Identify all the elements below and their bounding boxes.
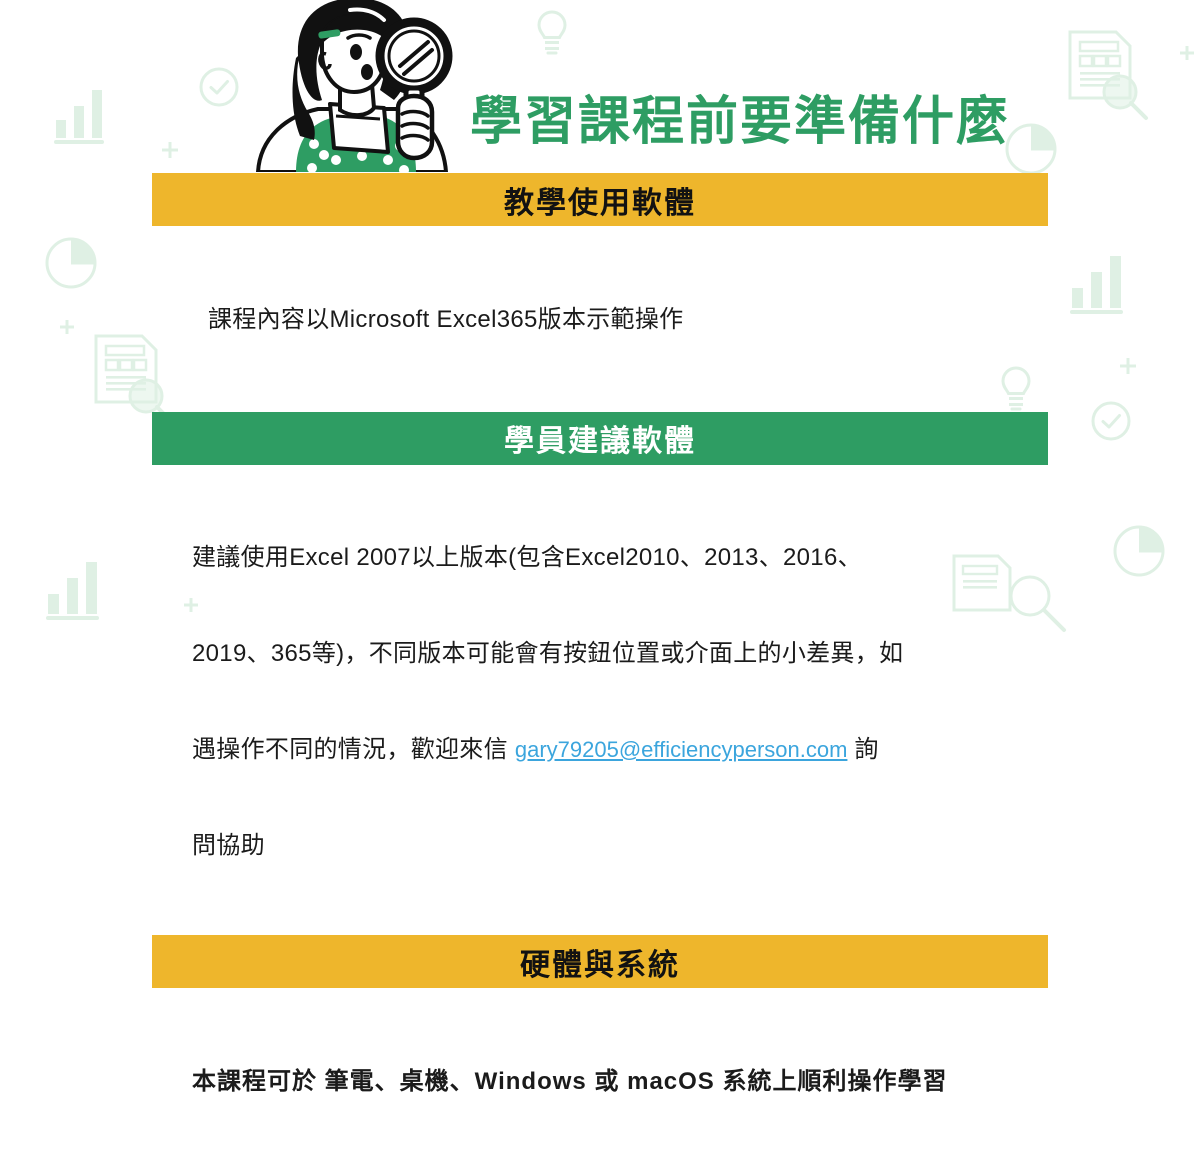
sections-container: 教學使用軟體 課程內容以Microsoft Excel365版本示範操作 學員建… [152,173,1048,1174]
bar-chart-icon [1068,250,1126,316]
plus-icon [160,140,180,160]
body-line: 問協助 [192,830,1048,862]
bar-chart-icon [52,84,108,146]
section-banner-teaching-software: 教學使用軟體 [152,173,1048,226]
check-circle-icon [1090,400,1132,442]
document-search-icon [1062,26,1154,124]
lightbulb-icon [532,8,572,58]
body-line: 建議使用Excel 2007以上版本(包含Excel2010、2013、2016… [192,542,1048,574]
pie-chart-icon [40,232,102,294]
section-teaching-software: 教學使用軟體 課程內容以Microsoft Excel365版本示範操作 [152,173,1048,412]
banner-label: 學員建議軟體 [504,416,696,460]
section-recommended-software: 學員建議軟體 建議使用Excel 2007以上版本(包含Excel2010、20… [152,412,1048,936]
woman-with-magnifying-glass-illustration [252,0,468,172]
section-hardware-and-system: 硬體與系統 本課程可於 筆電、桌機、Windows 或 macOS 系統上順利操… [152,935,1048,1174]
plus-icon [58,318,76,336]
banner-label: 教學使用軟體 [504,178,696,222]
body-line: 本課程可於 筆電、桌機、Windows 或 macOS 系統上順利操作學習 [192,1066,1048,1098]
section-body-recommended-software: 建議使用Excel 2007以上版本(包含Excel2010、2013、2016… [152,465,1048,936]
support-email-link[interactable]: gary79205@efficiencyperson.com [515,737,848,762]
check-circle-icon [198,66,240,108]
body-text-before-email: 遇操作不同的情況，歡迎來信 [192,736,515,763]
page-title: 學習課程前要準備什麼 [470,93,1010,153]
body-text-after-email: 詢 [847,736,878,763]
body-line: 2019、365等)，不同版本可能會有按鈕位置或介面上的小差異，如 [192,638,1048,670]
bar-chart-icon [44,556,102,622]
banner-label: 硬體與系統 [520,940,680,984]
plus-icon [1118,356,1138,376]
section-banner-recommended-software: 學員建議軟體 [152,412,1048,465]
section-body-hardware-and-system: 本課程可於 筆電、桌機、Windows 或 macOS 系統上順利操作學習 [152,988,1048,1174]
body-line: 課程內容以Microsoft Excel365版本示範操作 [208,304,1048,336]
body-line-with-email: 遇操作不同的情況，歡迎來信 gary79205@efficiencyperson… [192,734,1048,766]
section-body-teaching-software: 課程內容以Microsoft Excel365版本示範操作 [152,226,1048,412]
section-banner-hardware-and-system: 硬體與系統 [152,935,1048,988]
plus-icon [1178,44,1196,62]
pie-chart-icon [1108,520,1170,582]
